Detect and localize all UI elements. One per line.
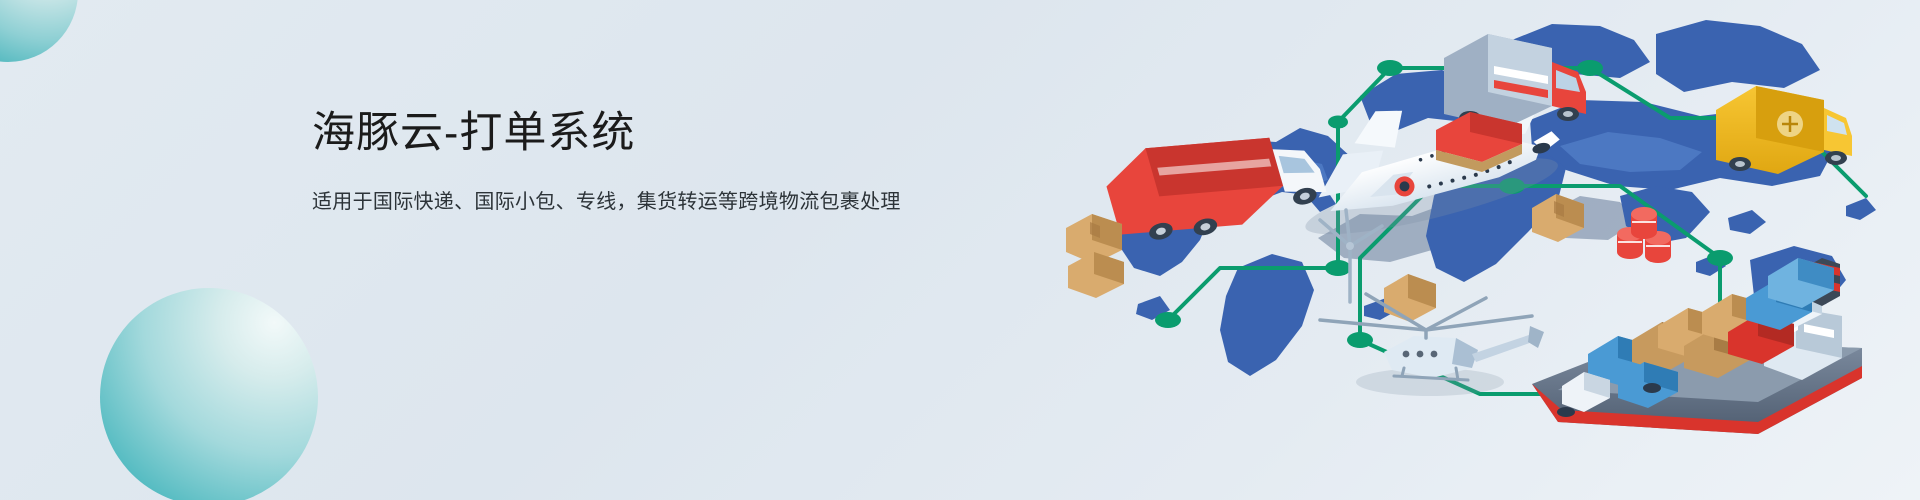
cargo-ship-icon: [1532, 258, 1862, 434]
top-left-circle-decoration: [0, 0, 78, 62]
page-title: 海豚云-打单系统: [312, 108, 932, 159]
hero-banner: 海豚云-打单系统 适用于国际快递、国际小包、专线，集货转运等跨境物流包裹处理: [0, 0, 1920, 500]
cargo-boxes-icon: [1384, 274, 1436, 322]
cargo-boxes-icon: [1066, 214, 1124, 298]
page-subtitle: 适用于国际快递、国际小包、专线，集货转运等跨境物流包裹处理: [312, 187, 932, 217]
logistics-illustration: [1060, 0, 1920, 500]
banner-copy: 海豚云-打单系统 适用于国际快递、国际小包、专线，集货转运等跨境物流包裹处理: [312, 108, 932, 217]
bottom-left-circle-decoration: [100, 288, 318, 500]
delivery-van-icon: [1716, 86, 1852, 174]
